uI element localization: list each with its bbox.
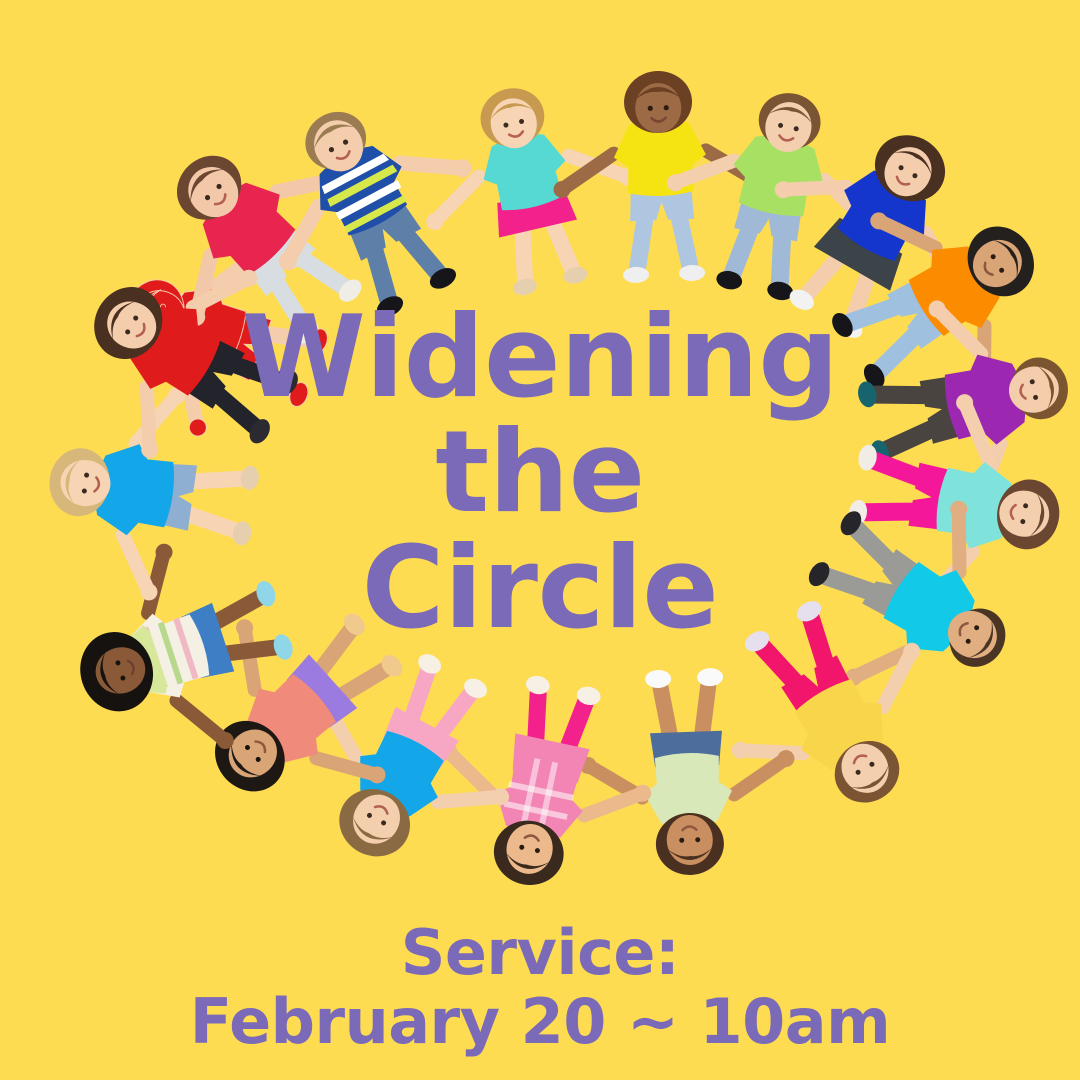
service-date-time: February 20 ~ 10am <box>0 987 1080 1056</box>
poster-canvas: Widening the Circle Service: February 20… <box>0 0 1080 1080</box>
title-line-1: Widening <box>0 300 1080 415</box>
child-figure-12 <box>576 665 798 878</box>
title-line-3: Circle <box>0 531 1080 646</box>
service-label: Service: <box>0 918 1080 987</box>
title-line-2: the <box>0 415 1080 530</box>
service-details: Service: February 20 ~ 10am <box>0 918 1080 1057</box>
poster-title: Widening the Circle <box>0 300 1080 646</box>
child-figure-13 <box>417 659 670 906</box>
